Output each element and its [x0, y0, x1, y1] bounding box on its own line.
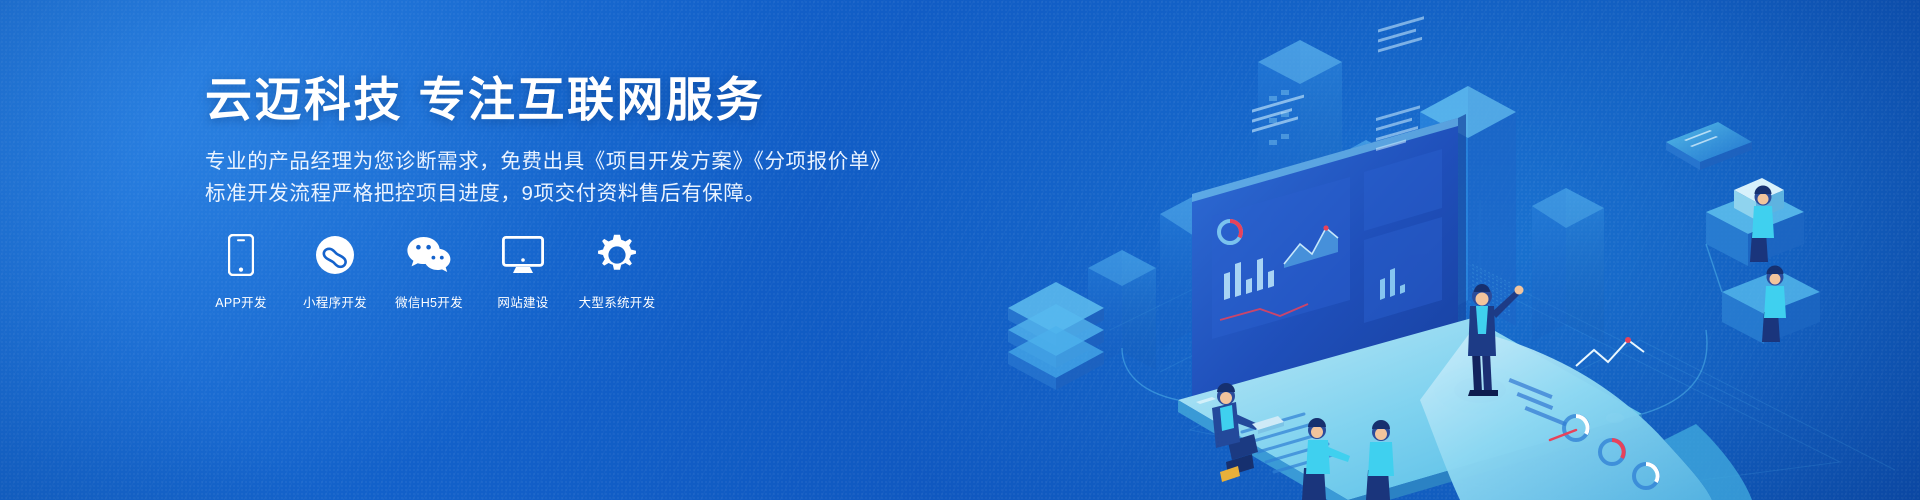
- banner-subtitle: 专业的产品经理为您诊断需求，免费出具《项目开发方案》《分项报价单》 标准开发流程…: [205, 146, 891, 210]
- mini-program-icon: [315, 232, 355, 278]
- page-title: 云迈科技 专注互联网服务: [205, 74, 765, 127]
- service-label: APP开发: [215, 292, 267, 311]
- subtitle-line-1: 专业的产品经理为您诊断需求，免费出具《项目开发方案》《分项报价单》: [205, 146, 891, 178]
- service-label: 微信H5开发: [395, 292, 463, 311]
- hero-banner: 云迈科技 专注互联网服务 专业的产品经理为您诊断需求，免费出具《项目开发方案》《…: [0, 0, 1920, 500]
- gear-icon: [596, 232, 638, 278]
- service-item-miniprogram[interactable]: 小程序开发: [299, 232, 371, 311]
- service-icon-row: APP开发 小程序开发: [205, 232, 653, 311]
- banner-content: 云迈科技 专注互联网服务 专业的产品经理为您诊断需求，免费出具《项目开发方案》《…: [0, 0, 960, 500]
- wechat-icon: [406, 232, 452, 278]
- service-label: 小程序开发: [303, 292, 367, 311]
- service-label: 大型系统开发: [579, 292, 656, 311]
- service-label: 网站建设: [497, 292, 548, 311]
- subtitle-line-2: 标准开发流程严格把控项目进度，9项交付资料售后有保障。: [205, 178, 891, 210]
- desktop-monitor-icon: [502, 232, 544, 278]
- isometric-tech-illustration: [860, 0, 1920, 500]
- service-item-website[interactable]: 网站建设: [487, 232, 559, 311]
- service-item-wechat[interactable]: 微信H5开发: [393, 232, 465, 311]
- mobile-phone-icon: [228, 232, 254, 278]
- service-item-app[interactable]: APP开发: [205, 232, 277, 311]
- service-item-system[interactable]: 大型系统开发: [581, 232, 653, 311]
